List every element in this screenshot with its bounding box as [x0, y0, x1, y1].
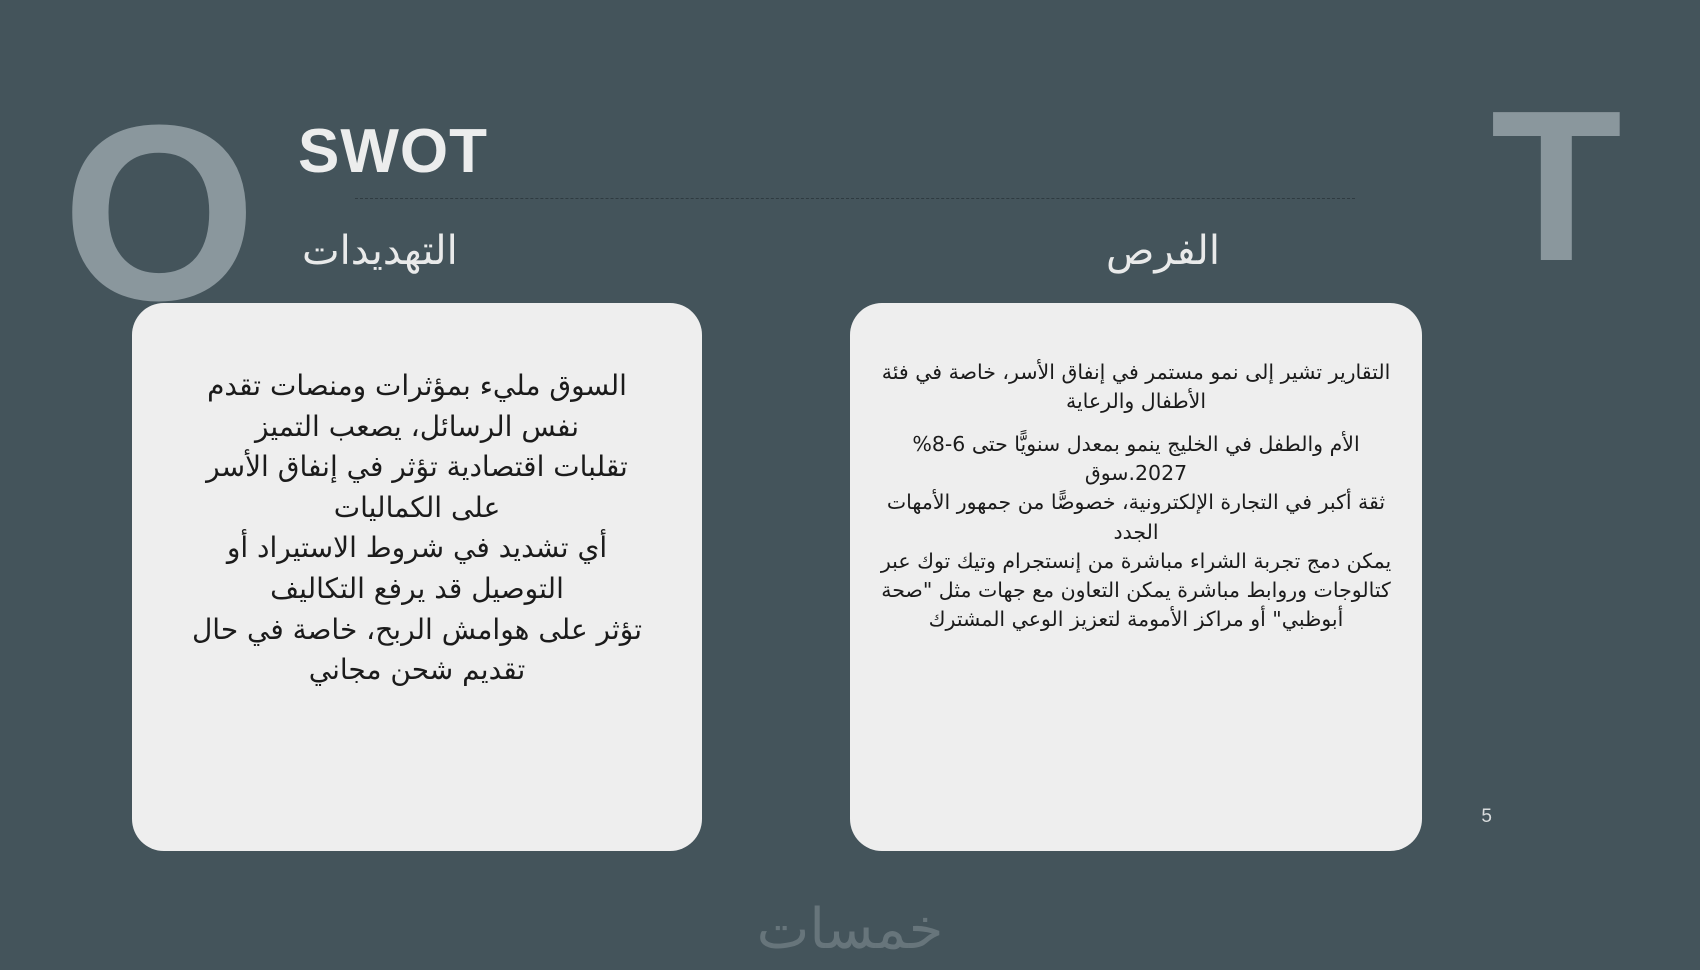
opportunities-card: التقارير تشير إلى نمو مستمر في إنفاق الأ…: [850, 303, 1422, 851]
slide-title: SWOT: [298, 116, 488, 187]
opportunities-paragraph: التقارير تشير إلى نمو مستمر في إنفاق الأ…: [878, 358, 1394, 416]
opportunities-paragraph: الأم والطفل في الخليج ينمو بمعدل سنويًّا…: [878, 430, 1394, 488]
threats-paragraph: أي تشديد في شروط الاستيراد أو التوصيل قد…: [178, 528, 656, 609]
threats-paragraph: تؤثر على هوامش الربح، خاصة في حال تقديم …: [178, 610, 656, 691]
opportunities-card-body: التقارير تشير إلى نمو مستمر في إنفاق الأ…: [850, 303, 1422, 634]
header-divider: [355, 198, 1355, 199]
threats-card: السوق مليء بمؤثرات ومنصات تقدم نفس الرسا…: [132, 303, 702, 851]
opportunities-paragraph: ثقة أكبر في التجارة الإلكترونية، خصوصًّا…: [878, 488, 1394, 546]
threats-paragraph: تقلبات اقتصادية تؤثر في إنفاق الأسر على …: [178, 447, 656, 528]
column-heading-threats: التهديدات: [302, 228, 458, 274]
threats-card-body: السوق مليء بمؤثرات ومنصات تقدم نفس الرسا…: [132, 303, 702, 691]
decorative-letter-o: O: [62, 88, 256, 338]
decorative-letter-t: T: [1491, 78, 1622, 293]
column-heading-opportunities: الفرص: [1106, 228, 1220, 274]
page-number: 5: [1481, 806, 1492, 828]
threats-paragraph: السوق مليء بمؤثرات ومنصات تقدم نفس الرسا…: [178, 366, 656, 447]
opportunities-paragraph: يمكن دمج تجربة الشراء مباشرة من إنستجرام…: [878, 547, 1394, 634]
watermark: خمسات: [0, 897, 1700, 962]
slide-canvas: O T SWOT التهديدات الفرص السوق مليء بمؤث…: [0, 0, 1700, 970]
